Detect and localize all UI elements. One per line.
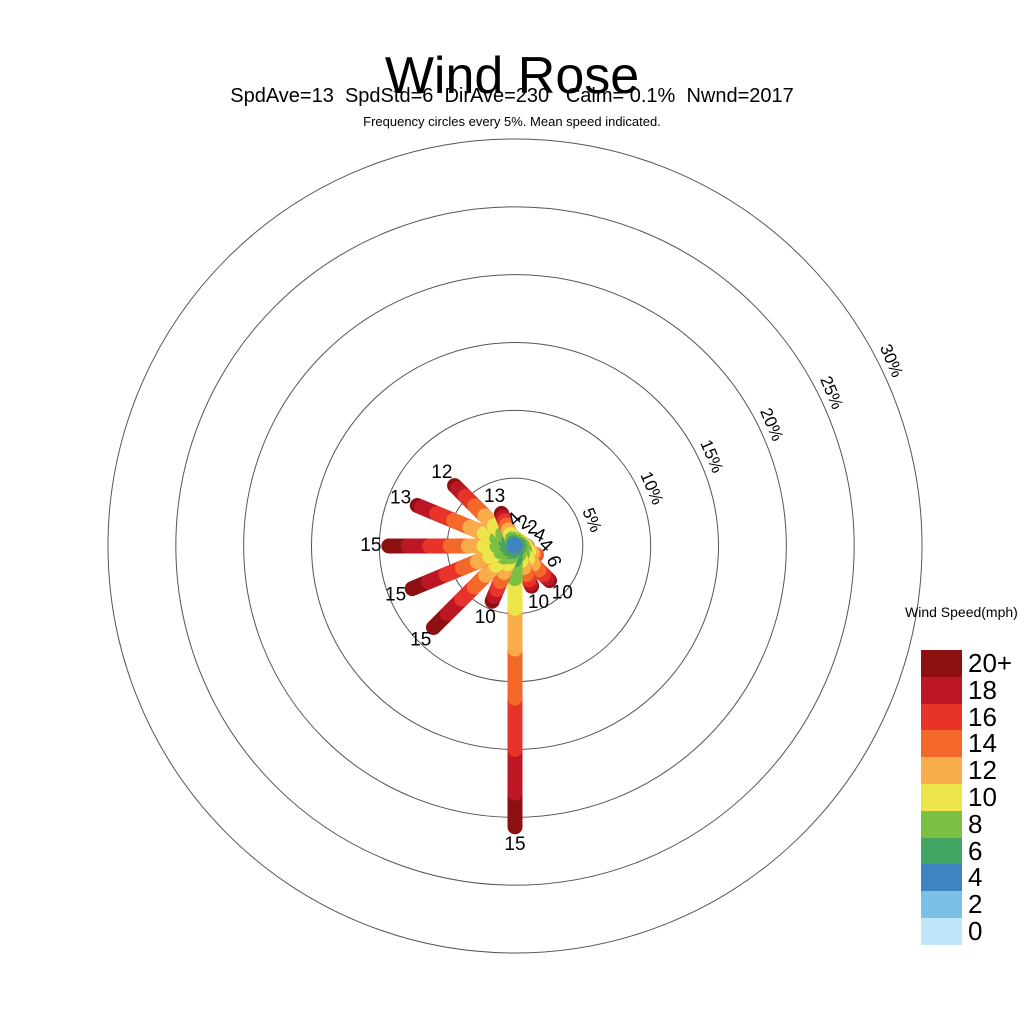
legend-label: 18 [968, 676, 997, 704]
ring-label: 20% [756, 405, 787, 444]
petal-label-s: 15 [504, 834, 525, 855]
legend-color-chip [921, 784, 962, 811]
legend-row: 2 [921, 891, 962, 918]
petal-label-sw: 15 [410, 629, 431, 650]
wind-rose-page: Wind Rose SpdAve=13 SpdStd=6 DirAve=230 … [0, 0, 1024, 1024]
legend-title: Wind Speed(mph) [905, 603, 1018, 621]
petal-label-sse: 10 [528, 592, 549, 613]
ring-label: 10% [636, 469, 667, 508]
legend-color-chip [921, 704, 962, 731]
legend-color-chip [921, 838, 962, 865]
legend-label: 14 [968, 729, 997, 757]
legend-color-chip [921, 677, 962, 704]
legend-label: 0 [968, 917, 982, 945]
legend-label: 20+ [968, 649, 1012, 677]
legend-row: 8 [921, 811, 962, 838]
wind-rose-plot: 5%10%15%20%25%30% 4224461010151015151513… [0, 0, 1024, 1024]
legend-row: 14 [921, 730, 962, 757]
legend-swatches: 20+181614121086420 [921, 650, 962, 945]
legend-row: 6 [921, 838, 962, 865]
legend-label: 10 [968, 783, 997, 811]
petal-label-se: 10 [552, 582, 573, 603]
legend-color-chip [921, 891, 962, 918]
legend-label: 4 [968, 863, 982, 891]
legend-color-chip [921, 730, 962, 757]
legend-color-chip [921, 650, 962, 677]
legend-row: 16 [921, 704, 962, 731]
legend-label: 16 [968, 703, 997, 731]
ring-label: 25% [816, 373, 847, 412]
petal-label-w: 15 [360, 535, 381, 556]
petal-label-ese: 6 [542, 553, 565, 571]
legend-row: 4 [921, 864, 962, 891]
petal-label-wsw: 15 [385, 584, 406, 605]
legend-label: 12 [968, 756, 997, 784]
legend-row: 10 [921, 784, 962, 811]
legend-color-chip [921, 757, 962, 784]
petal-label-wnw: 13 [390, 488, 411, 509]
ring-label: 30% [876, 341, 907, 380]
petal-label-nnw: 13 [484, 486, 505, 507]
ring-label: 15% [696, 437, 727, 476]
legend-row: 18 [921, 677, 962, 704]
legend-row: 0 [921, 918, 962, 945]
legend-label: 6 [968, 837, 982, 865]
legend-color-chip [921, 811, 962, 838]
legend-row: 20+ [921, 650, 962, 677]
legend-label: 8 [968, 810, 982, 838]
petal-label-ssw: 10 [475, 607, 496, 628]
legend-color-chip [921, 918, 962, 945]
legend-color-chip [921, 864, 962, 891]
legend-row: 12 [921, 757, 962, 784]
ring-label: 5% [578, 505, 605, 535]
direction-petals [389, 486, 550, 827]
petal-label-nw: 12 [431, 462, 452, 483]
legend-label: 2 [968, 890, 982, 918]
ring-percent-labels: 5%10%15%20%25%30% [578, 341, 906, 535]
